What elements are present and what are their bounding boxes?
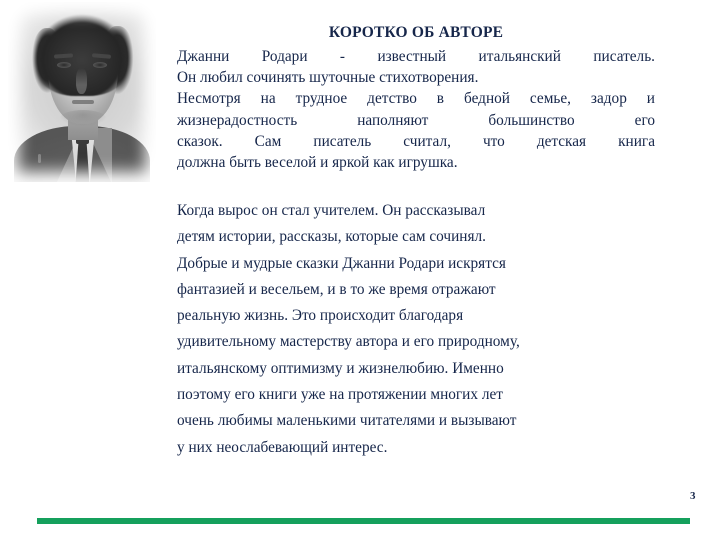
bio-line: итальянскому оптимизму и жизнелюбию. Име… [177, 356, 677, 382]
author-bio-justified-block: Джанни Родари - известный итальянский пи… [177, 46, 655, 173]
author-bio-loose-block: Когда вырос он стал учителем. Он рассказ… [177, 198, 677, 461]
portrait-eye-left [57, 62, 71, 68]
footer-accent-rule [37, 518, 690, 524]
bio-line: Когда вырос он стал учителем. Он рассказ… [177, 198, 677, 224]
bio-line: Он любил сочинять шуточные стихотворения… [177, 67, 655, 88]
bio-line: сказок. Сам писатель считал, что детская… [177, 131, 655, 152]
portrait-pocket-detail [38, 154, 41, 163]
page-number: 3 [690, 490, 696, 502]
portrait-chin-shadow [60, 110, 106, 126]
portrait-eye-right [93, 62, 107, 68]
slide-canvas: КОРОТКО ОБ АВТОРЕ Джанни Родари - извест… [0, 0, 720, 540]
bio-line: Несмотря на трудное детство в бедной сем… [177, 88, 655, 109]
bio-line: удивительному мастерству автора и его пр… [177, 329, 677, 355]
bio-line: у них неослабевающий интерес. [177, 435, 677, 461]
bio-line: Добрые и мудрые сказки Джанни Родари иск… [177, 251, 677, 277]
bio-line: поэтому его книги уже на протяжении мног… [177, 382, 677, 408]
bio-line: должна быть веселой и яркой как игрушка. [177, 152, 655, 173]
portrait-mouth [72, 100, 94, 104]
bio-line: жизнерадостность наполняют большинство е… [177, 110, 655, 131]
bio-line: детям истории, рассказы, которые сам соч… [177, 224, 677, 250]
bio-line: реальную жизнь. Это происходит благодаря [177, 303, 677, 329]
author-portrait-photo [8, 2, 156, 182]
bio-line: фантазией и весельем, и в то же время от… [177, 277, 677, 303]
portrait-nose [76, 68, 87, 94]
bio-line: очень любимы маленькими читателями и выз… [177, 408, 677, 434]
bio-line: Джанни Родари - известный итальянский пи… [177, 46, 655, 67]
page-title: КОРОТКО ОБ АВТОРЕ [176, 24, 656, 42]
portrait-image [8, 2, 156, 182]
